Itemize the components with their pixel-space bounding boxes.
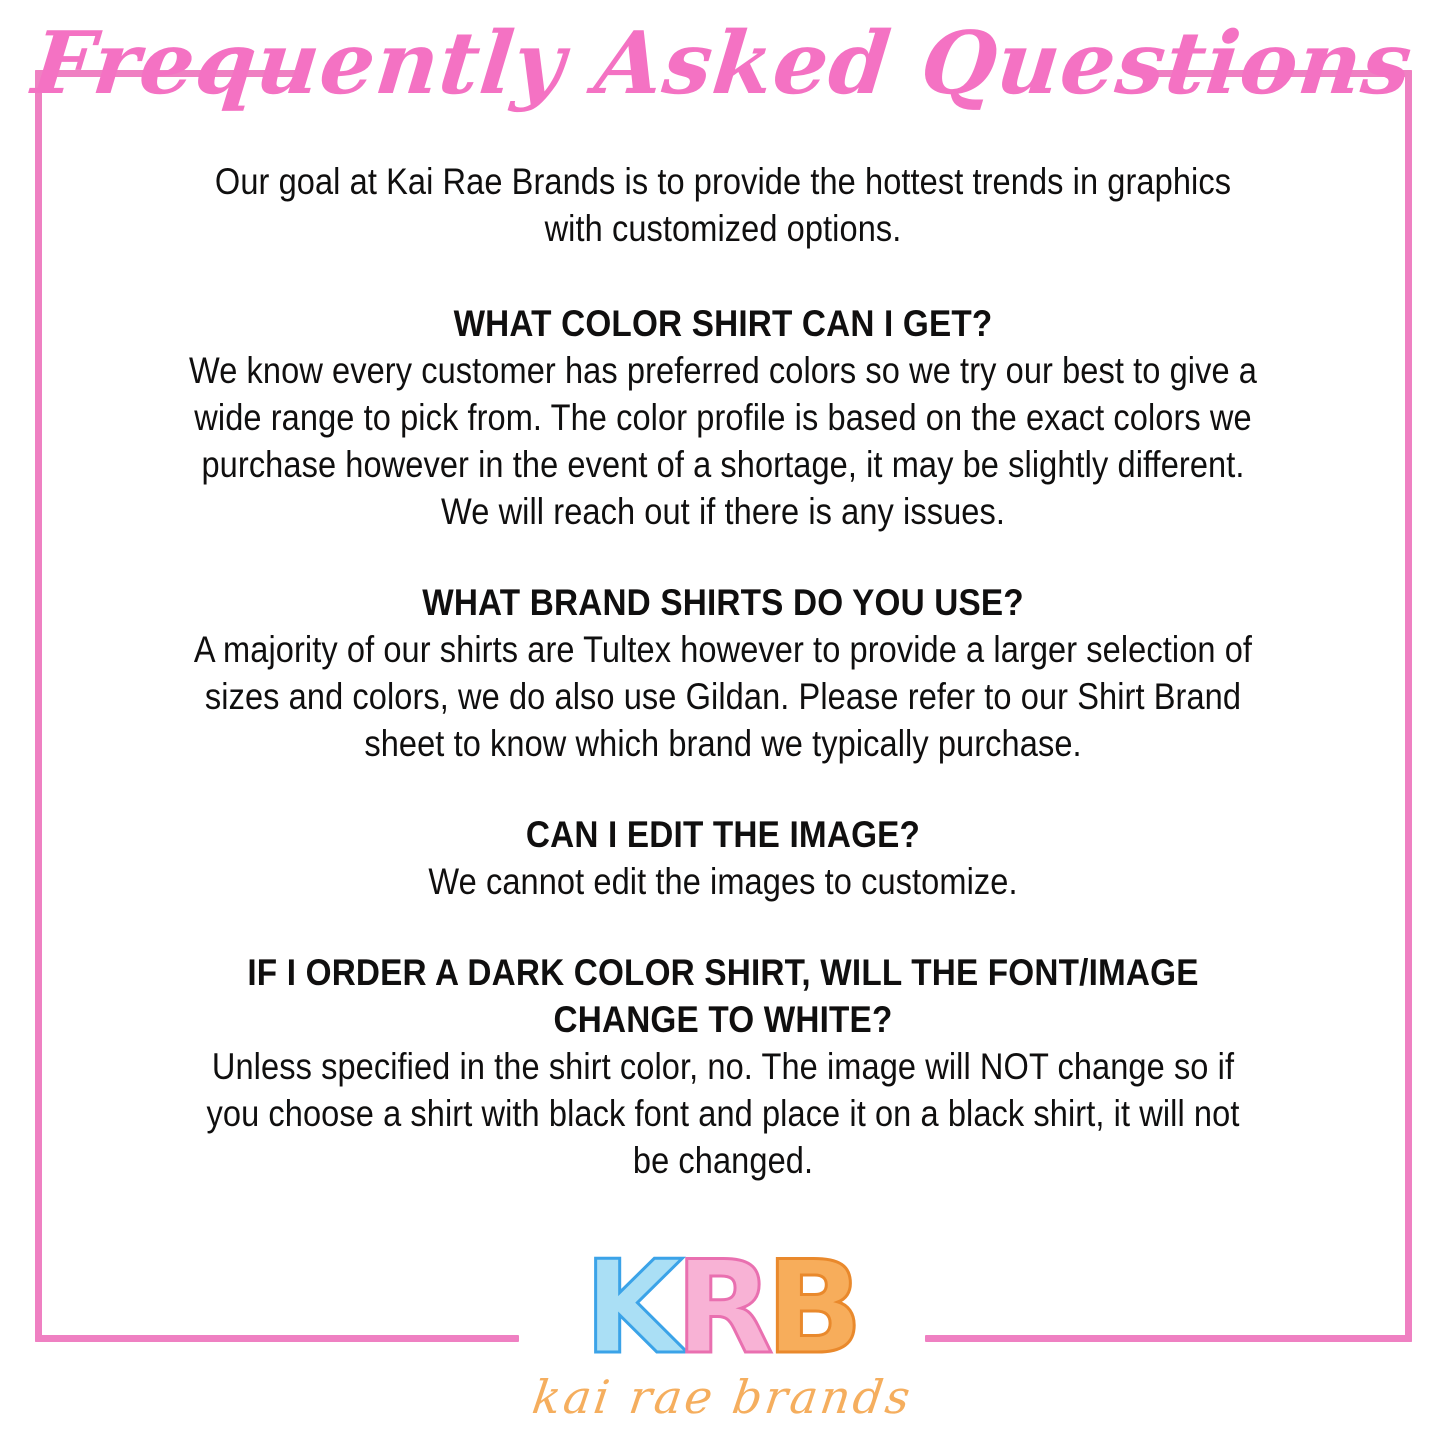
intro-paragraph: Our goal at Kai Rae Brands is to provide… xyxy=(185,158,1260,252)
frame-right-segment xyxy=(1405,70,1412,1342)
brand-logo: KRB kai rae brands xyxy=(0,1243,1445,1425)
faq-answer-1: We know every customer has preferred col… xyxy=(185,347,1260,535)
spacer xyxy=(112,905,1334,949)
spacer xyxy=(112,252,1334,300)
logo-letters: KRB xyxy=(584,1243,861,1375)
page-title: Frequently Asked Questions xyxy=(0,8,1445,120)
faq-question-4: IF I ORDER A DARK COLOR SHIRT, WILL THE … xyxy=(173,949,1273,1043)
faq-answer-4: Unless specified in the shirt color, no.… xyxy=(185,1043,1260,1184)
faq-answer-2: A majority of our shirts are Tultex howe… xyxy=(185,626,1260,767)
logo-tagline: kai rae brands xyxy=(529,1369,916,1425)
faq-page: Frequently Asked Questions Our goal at K… xyxy=(0,0,1445,1445)
faq-answer-3: We cannot edit the images to customize. xyxy=(185,858,1260,905)
faq-question-2: WHAT BRAND SHIRTS DO YOU USE? xyxy=(173,579,1273,626)
logo-letter-r: R xyxy=(675,1243,772,1375)
frame-left-segment xyxy=(35,70,42,1342)
faq-question-1: WHAT COLOR SHIRT CAN I GET? xyxy=(173,300,1273,347)
spacer xyxy=(112,535,1334,579)
faq-question-3: CAN I EDIT THE IMAGE? xyxy=(173,811,1273,858)
faq-content: Our goal at Kai Rae Brands is to provide… xyxy=(112,158,1334,1184)
logo-letter-b: B xyxy=(766,1243,862,1375)
logo-letter-k: K xyxy=(584,1243,681,1375)
spacer xyxy=(112,767,1334,811)
